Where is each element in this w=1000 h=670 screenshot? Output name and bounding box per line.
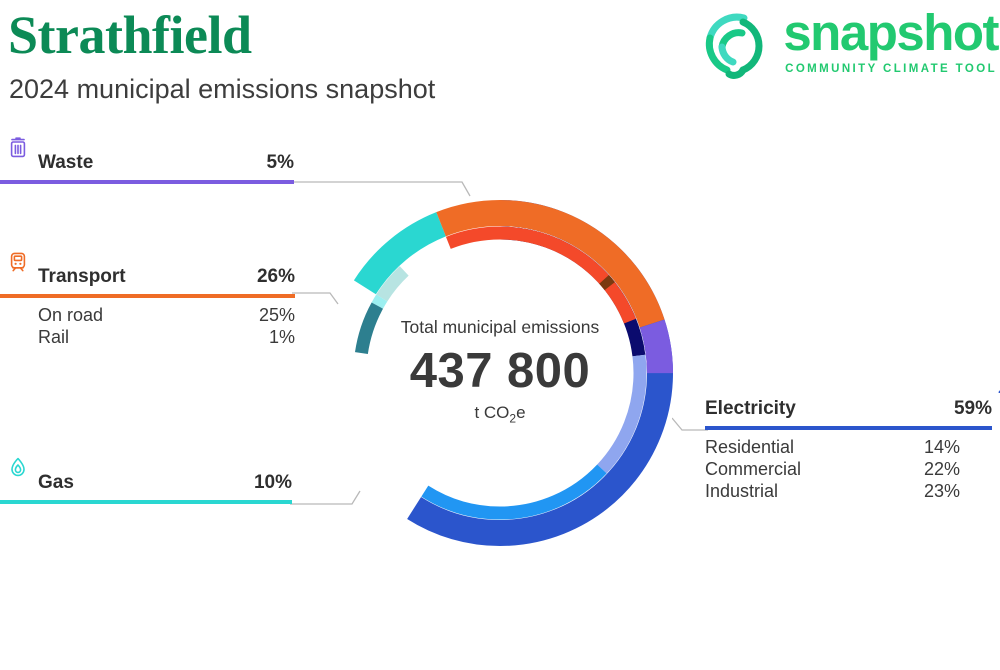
legend-gas-bar (0, 500, 292, 504)
flame-icon (6, 456, 30, 480)
legend-transport-percent: 26% (257, 266, 295, 288)
page-subtitle: 2024 municipal emissions snapshot (9, 72, 435, 106)
legend-gas-percent: 10% (254, 472, 292, 494)
legend-waste-percent: 5% (267, 152, 294, 174)
emissions-donut-chart: Total municipal emissions 437 800 t CO2e (322, 195, 678, 551)
list-item[interactable]: Residential 14% (705, 436, 960, 458)
legend-electricity-sublist: Residential 14% Commercial 22% Industria… (705, 436, 960, 502)
spiral-icon (697, 8, 771, 87)
legend-electricity[interactable]: Electricity 59% Residential 14% Commerci… (705, 398, 992, 502)
legend-waste-bar (0, 180, 294, 184)
legend-waste[interactable]: Waste 5% (0, 152, 294, 184)
sub-label: Commercial (705, 458, 801, 480)
legend-transport-label: Transport (38, 266, 126, 288)
sub-label: Rail (38, 326, 69, 348)
legend-transport[interactable]: Transport 26% On road 25% Rail 1% (0, 266, 295, 348)
list-item[interactable]: On road 25% (38, 304, 295, 326)
list-item[interactable]: Commercial 22% (705, 458, 960, 480)
donut-unit-suffix: e (516, 403, 525, 422)
page-title: Strathfield (8, 4, 252, 66)
lightning-bolt-icon (994, 380, 1000, 404)
legend-gas[interactable]: Gas 10% (0, 472, 292, 504)
logo-tagline: COMMUNITY CLIMATE TOOL (785, 63, 997, 75)
legend-transport-bar (0, 294, 295, 298)
trash-bin-icon (6, 136, 30, 160)
donut-unit-prefix: t CO (474, 403, 509, 422)
legend-electricity-percent: 59% (954, 398, 992, 420)
legend-waste-label: Waste (38, 152, 93, 174)
legend-transport-sublist: On road 25% Rail 1% (38, 304, 295, 348)
sub-label: On road (38, 304, 103, 326)
sub-percent: 1% (269, 326, 295, 348)
list-item[interactable]: Rail 1% (38, 326, 295, 348)
list-item[interactable]: Industrial 23% (705, 480, 960, 502)
legend-gas-label: Gas (38, 472, 74, 494)
sub-percent: 23% (924, 480, 960, 502)
legend-electricity-bar (705, 426, 992, 430)
donut-unit: t CO2e (474, 402, 525, 429)
logo-wordmark: snapshot (783, 6, 998, 60)
train-icon (6, 250, 30, 274)
donut-center-label: Total municipal emissions 437 800 t CO2e (322, 195, 678, 551)
sub-percent: 14% (924, 436, 960, 458)
sub-label: Residential (705, 436, 794, 458)
snapshot-logo: snapshot COMMUNITY CLIMATE TOOL (697, 6, 998, 86)
sub-percent: 25% (259, 304, 295, 326)
legend-electricity-label: Electricity (705, 398, 796, 420)
sub-label: Industrial (705, 480, 778, 502)
sub-percent: 22% (924, 458, 960, 480)
donut-caption: Total municipal emissions (401, 316, 599, 338)
donut-total-value: 437 800 (410, 342, 591, 400)
